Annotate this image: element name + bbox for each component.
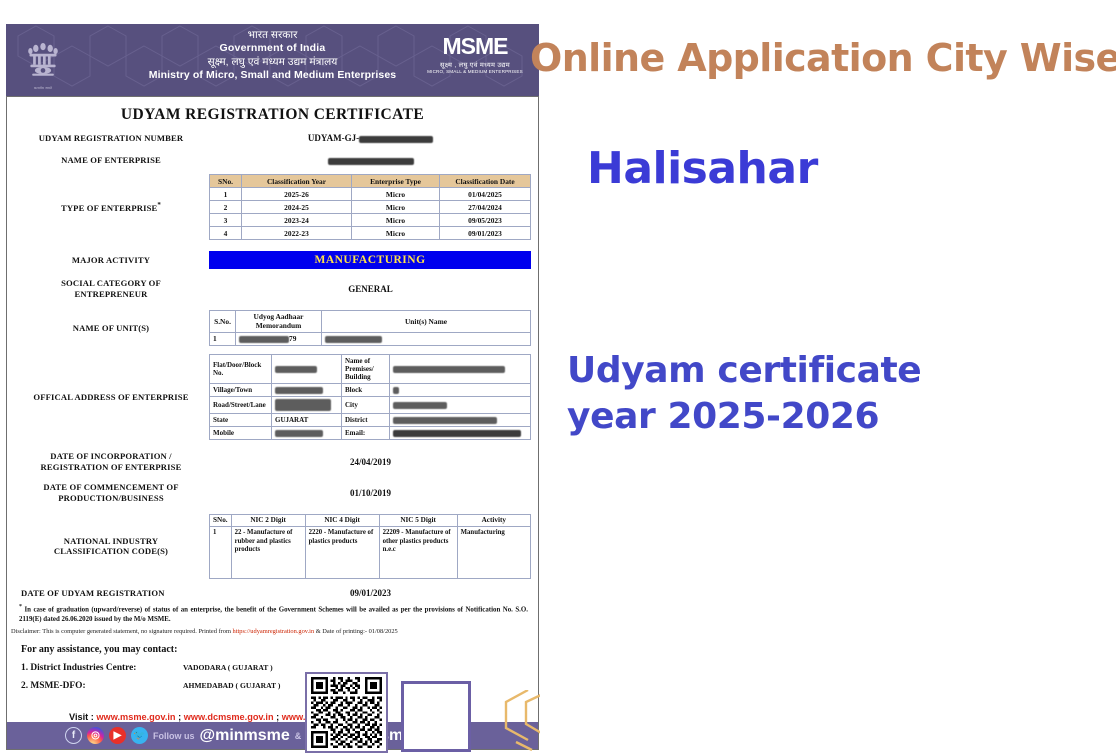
- blank-placeholder-box: [401, 681, 471, 752]
- cell-sno: 2: [210, 201, 242, 214]
- major-activity-value-wrap: MANUFACTURING: [209, 251, 532, 269]
- date-incorporation-value: 24/04/2019: [209, 457, 532, 467]
- address-table-wrap: Flat/Door/Block No. Name of Premises/ Bu…: [209, 354, 532, 440]
- cell-nic4: 2220 - Manufacture of plastics products: [305, 526, 379, 578]
- date-incorporation-label: DATE OF INCORPORATION /REGISTRATION OF E…: [13, 451, 209, 472]
- sub-line-1: Udyam certificate: [567, 348, 921, 394]
- ampersand-label: &: [295, 731, 302, 741]
- col-unit-name: Unit(s) Name: [322, 310, 531, 332]
- contact-dfo-value: AHMEDABAD ( GUJARAT ): [183, 681, 280, 691]
- row-social-category: SOCIAL CATEGORY OFENTREPRENEUR GENERAL: [7, 269, 538, 299]
- cell-value: [390, 426, 531, 439]
- enterprise-name-label: NAME OF ENTERPRISE: [13, 155, 209, 166]
- social-category-value: GENERAL: [209, 284, 532, 294]
- cell-date: 09/05/2023: [440, 214, 531, 227]
- units-table: S.No. Udyog Aadhaar Memorandum Unit(s) N…: [209, 310, 531, 346]
- row-major-activity: MAJOR ACTIVITY MANUFACTURING: [7, 240, 538, 269]
- cell-uam: 79: [236, 332, 322, 345]
- cell-key: District: [342, 413, 390, 426]
- major-activity-badge: MANUFACTURING: [209, 251, 531, 269]
- link-dcmsme-gov-in[interactable]: www.dcmsme.gov.in: [184, 712, 274, 722]
- cell-type: Micro: [352, 188, 440, 201]
- msme-logo-mark: MSME: [421, 36, 529, 58]
- col-classification-year: Classification Year: [242, 175, 352, 188]
- redaction-bar: [393, 387, 399, 394]
- youtube-icon[interactable]: ▶: [109, 727, 126, 744]
- table-row: Village/Town Block: [210, 383, 531, 396]
- cell-value: [272, 354, 342, 383]
- cell-value: [390, 383, 531, 396]
- redaction-bar: [393, 417, 497, 424]
- cell-activity: Manufacturing: [457, 526, 530, 578]
- udyam-portal-link[interactable]: https://udyamregistration.gov.in: [233, 628, 315, 635]
- table-row: 1 79: [210, 332, 531, 345]
- enterprise-name-value: [209, 155, 532, 165]
- disclaimer: Disclaimer: This is computer generated s…: [7, 625, 538, 635]
- table-header-row: SNo. Classification Year Enterprise Type…: [210, 175, 531, 188]
- col-nic4: NIC 4 Digit: [305, 514, 379, 526]
- row-nic: NATIONAL INDUSTRYCLASSIFICATION CODE(S) …: [7, 504, 538, 579]
- cell-type: Micro: [352, 227, 440, 240]
- cell-key: State: [210, 413, 272, 426]
- classification-table: SNo. Classification Year Enterprise Type…: [209, 174, 531, 240]
- date-commencement-label: DATE OF COMMENCEMENT OFPRODUCTION/BUSINE…: [13, 482, 209, 503]
- col-nic2: NIC 2 Digit: [231, 514, 305, 526]
- date-udyam-reg-label: DATE OF UDYAM REGISTRATION: [13, 588, 209, 599]
- emblem-caption: सत्यमेव जयते: [34, 85, 52, 90]
- certificate-header-banner: सत्यमेव जयते भारत सरकार Government of In…: [6, 24, 539, 96]
- sub-line-2: year 2025-2026: [567, 394, 921, 440]
- msme-logo-english: MICRO, SMALL & MEDIUM ENTERPRISES: [421, 69, 529, 74]
- cell-value: [272, 426, 342, 439]
- cell-year: 2023-24: [242, 214, 352, 227]
- row-type-of-enterprise: TYPE OF ENTERPRISE* SNo. Classification …: [7, 165, 538, 240]
- table-header-row: SNo. NIC 2 Digit NIC 4 Digit NIC 5 Digit…: [210, 514, 531, 526]
- contact-dic-label: 1. District Industries Centre:: [21, 663, 183, 673]
- cell-unit-name: [322, 332, 531, 345]
- disclaimer-after: & Date of printing:- 01/08/2025: [314, 628, 398, 635]
- col-sno: S.No.: [210, 310, 236, 332]
- contact-dfo-label: 2. MSME-DFO:: [21, 681, 183, 691]
- redaction-bar: [275, 399, 331, 411]
- cell-type: Micro: [352, 214, 440, 227]
- table-row: Road/Street/Lane City: [210, 396, 531, 413]
- official-address-label: OFFICAL ADDRESS OF ENTERPRISE: [13, 392, 209, 403]
- table-header-row: S.No. Udyog Aadhaar Memorandum Unit(s) N…: [210, 310, 531, 332]
- handle-minmsme[interactable]: @minmsme: [200, 727, 290, 745]
- city-name: Halisahar: [587, 143, 818, 194]
- contact-dic-value: VADODARA ( GUJARAT ): [183, 663, 273, 673]
- table-row: 1 22 - Manufacture of rubber and plastic…: [210, 526, 531, 578]
- table-row: 4 2022-23 Micro 09/01/2023: [210, 227, 531, 240]
- cell-date: 01/04/2025: [440, 188, 531, 201]
- graduation-note: * In case of graduation (upward/reverse)…: [7, 599, 538, 625]
- table-row: 1 2025-26 Micro 01/04/2025: [210, 188, 531, 201]
- cell-key: Road/Street/Lane: [210, 396, 272, 413]
- visit-separator: ;: [176, 712, 184, 722]
- twitter-icon[interactable]: 🐦: [131, 727, 148, 744]
- redaction-bar: [393, 402, 447, 409]
- row-date-udyam-registration: DATE OF UDYAM REGISTRATION 09/01/2023: [7, 579, 538, 599]
- redaction-bar: [328, 158, 414, 165]
- redaction-bar: [393, 366, 505, 373]
- redaction-bar: [393, 430, 521, 437]
- msme-logo-hindi: सूक्ष्म , लघु एवं मध्यम उद्यम: [421, 60, 529, 69]
- row-date-incorporation: DATE OF INCORPORATION /REGISTRATION OF E…: [7, 440, 538, 472]
- redaction-bar: [359, 136, 433, 143]
- date-udyam-reg-value: 09/01/2023: [209, 588, 532, 598]
- page-title: Online Application City Wise: [530, 36, 1116, 80]
- row-official-address: OFFICAL ADDRESS OF ENTERPRISE Flat/Door/…: [7, 346, 538, 440]
- cell-sno: 1: [210, 188, 242, 201]
- cell-sno: 4: [210, 227, 242, 240]
- visit-prefix: Visit :: [69, 712, 96, 722]
- name-of-units-label: NAME OF UNIT(S): [13, 323, 209, 334]
- visit-separator: ;: [274, 712, 282, 722]
- nic-table-wrap: SNo. NIC 2 Digit NIC 4 Digit NIC 5 Digit…: [209, 514, 532, 579]
- udyam-number-label: UDYAM REGISTRATION NUMBER: [13, 133, 209, 144]
- asterisk-marker: *: [157, 201, 161, 209]
- cell-sno: 3: [210, 214, 242, 227]
- qr-code[interactable]: [305, 672, 388, 753]
- redaction-bar: [275, 366, 317, 373]
- redaction-bar: [275, 387, 323, 394]
- certificate-year-caption: Udyam certificate year 2025-2026: [567, 348, 921, 440]
- col-classification-date: Classification Date: [440, 175, 531, 188]
- nic-table: SNo. NIC 2 Digit NIC 4 Digit NIC 5 Digit…: [209, 514, 531, 579]
- cell-date: 27/04/2024: [440, 201, 531, 214]
- classification-table-wrap: SNo. Classification Year Enterprise Type…: [209, 174, 532, 240]
- cell-value: [390, 413, 531, 426]
- graduation-note-text: In case of graduation (upward/reverse) o…: [19, 606, 528, 623]
- hexagon-decoration-icon: [468, 690, 543, 753]
- redaction-bar: [239, 336, 289, 343]
- cell-year: 2022-23: [242, 227, 352, 240]
- cell-sno: 1: [210, 526, 232, 578]
- asterisk-marker: *: [19, 604, 22, 610]
- row-date-commencement: DATE OF COMMENCEMENT OFPRODUCTION/BUSINE…: [7, 472, 538, 503]
- cell-key: Name of Premises/ Building: [342, 354, 390, 383]
- cell-value: GUJARAT: [272, 413, 342, 426]
- facebook-icon[interactable]: f: [65, 727, 82, 744]
- nic-label: NATIONAL INDUSTRYCLASSIFICATION CODE(S): [13, 536, 209, 557]
- right-info-panel: Online Application City Wise Halisahar U…: [540, 0, 1116, 753]
- cell-key: Flat/Door/Block No.: [210, 354, 272, 383]
- disclaimer-before: Disclaimer: This is computer generated s…: [11, 628, 233, 635]
- table-row: State GUJARAT District: [210, 413, 531, 426]
- cell-value: [272, 383, 342, 396]
- col-nic5: NIC 5 Digit: [379, 514, 457, 526]
- redaction-bar: [325, 336, 382, 343]
- cell-key: City: [342, 396, 390, 413]
- cell-key: Email:: [342, 426, 390, 439]
- cell-key: Mobile: [210, 426, 272, 439]
- table-row: Mobile Email:: [210, 426, 531, 439]
- certificate-title: UDYAM REGISTRATION CERTIFICATE: [7, 97, 538, 131]
- cell-date: 09/01/2023: [440, 227, 531, 240]
- row-enterprise-name: NAME OF ENTERPRISE: [7, 144, 538, 166]
- cell-nic2: 22 - Manufacture of rubber and plastics …: [231, 526, 305, 578]
- cell-nic5: 22209 - Manufacture of other plastics pr…: [379, 526, 457, 578]
- cell-value: [390, 396, 531, 413]
- table-row: Flat/Door/Block No. Name of Premises/ Bu…: [210, 354, 531, 383]
- table-row: 3 2023-24 Micro 09/05/2023: [210, 214, 531, 227]
- qr-code-icon: [310, 677, 383, 748]
- social-category-label: SOCIAL CATEGORY OFENTREPRENEUR: [13, 278, 209, 299]
- col-enterprise-type: Enterprise Type: [352, 175, 440, 188]
- cell-key: Block: [342, 383, 390, 396]
- instagram-icon[interactable]: ◎: [87, 727, 104, 744]
- col-udyog-aadhaar: Udyog Aadhaar Memorandum: [236, 310, 322, 332]
- msme-logo: MSME सूक्ष्म , लघु एवं मध्यम उद्यम MICRO…: [421, 36, 529, 74]
- contact-dic: 1. District Industries Centre: VADODARA …: [7, 655, 538, 673]
- cell-value: [390, 354, 531, 383]
- row-udyam-number: UDYAM REGISTRATION NUMBER UDYAM-GJ-: [7, 131, 538, 144]
- type-of-enterprise-label: TYPE OF ENTERPRISE*: [13, 201, 209, 214]
- type-of-enterprise-text: TYPE OF ENTERPRISE: [61, 203, 157, 213]
- cell-year: 2025-26: [242, 188, 352, 201]
- udyam-number-value: UDYAM-GJ-: [209, 133, 532, 143]
- col-sno: SNo.: [210, 514, 232, 526]
- certificate-body: UDYAM REGISTRATION CERTIFICATE UDYAM REG…: [6, 96, 539, 750]
- col-activity: Activity: [457, 514, 530, 526]
- major-activity-label: MAJOR ACTIVITY: [13, 255, 209, 266]
- udyam-certificate: सत्यमेव जयते भारत सरकार Government of In…: [6, 24, 539, 750]
- cell-key: Village/Town: [210, 383, 272, 396]
- table-row: 2 2024-25 Micro 27/04/2024: [210, 201, 531, 214]
- uam-suffix: 79: [289, 334, 296, 343]
- col-sno: SNo.: [210, 175, 242, 188]
- date-commencement-value: 01/10/2019: [209, 488, 532, 498]
- link-msme-gov-in[interactable]: www.msme.gov.in: [96, 712, 175, 722]
- cell-year: 2024-25: [242, 201, 352, 214]
- udyam-number-prefix: UDYAM-GJ-: [308, 133, 359, 143]
- address-table: Flat/Door/Block No. Name of Premises/ Bu…: [209, 354, 531, 440]
- row-name-of-units: NAME OF UNIT(S) S.No. Udyog Aadhaar Memo…: [7, 300, 538, 346]
- cell-type: Micro: [352, 201, 440, 214]
- cell-value: [272, 396, 342, 413]
- units-table-wrap: S.No. Udyog Aadhaar Memorandum Unit(s) N…: [209, 310, 532, 346]
- follow-us-label: Follow us: [153, 731, 195, 741]
- cell-sno: 1: [210, 332, 236, 345]
- assistance-heading: For any assistance, you may contact:: [7, 635, 538, 655]
- redaction-bar: [275, 430, 323, 437]
